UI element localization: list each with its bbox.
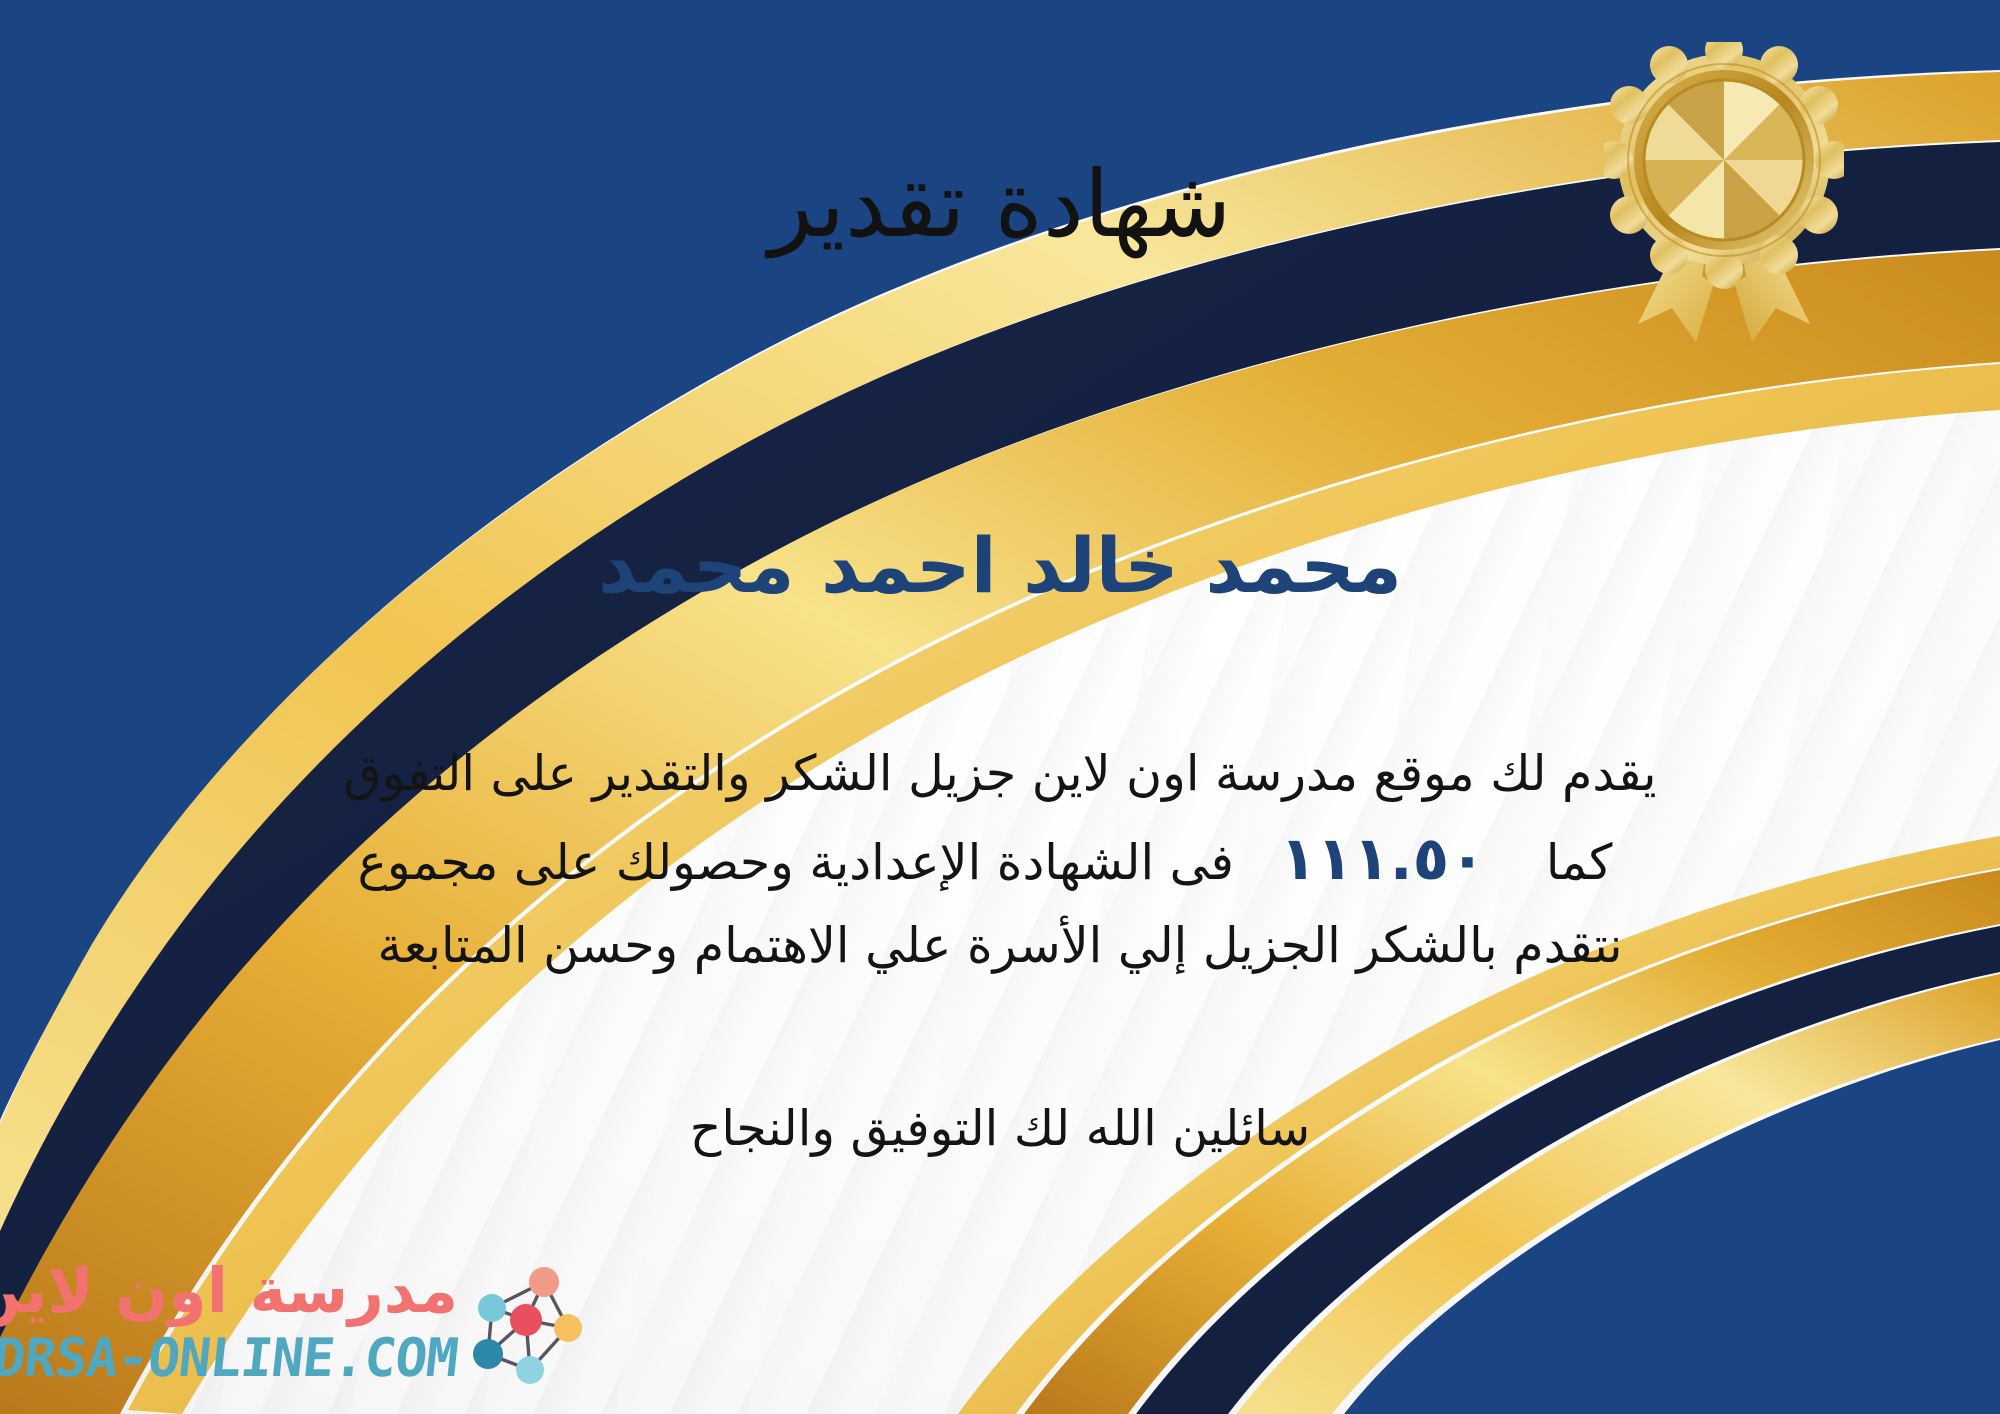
certificate-title: شهادة تقدير	[0, 152, 2000, 258]
total-score-value: ١١١.٥٠	[1238, 812, 1542, 907]
certificate-body: يقدم لك موقع مدرسة اون لاين جزيل الشكر و…	[60, 735, 1940, 985]
body-line-3: نتقدم بالشكر الجزيل إلي الأسرة علي الاهت…	[60, 907, 1940, 984]
certificate-content: شهادة تقدير محمد خالد احمد محمد يقدم لك …	[0, 0, 2000, 1414]
logo-website-text: MADRSA-ONLINE.COM	[0, 1328, 460, 1389]
site-logo[interactable]: مدرسة اون لاين MADRSA-ONLINE.COM	[26, 1252, 586, 1400]
recipient-name: محمد خالد احمد محمد	[0, 520, 2000, 611]
body-line-2: كما ١١١.٥٠ فى الشهادة الإعدادية وحصولك ع…	[60, 812, 1940, 907]
network-nodes-icon	[464, 1258, 582, 1390]
body-line-1: يقدم لك موقع مدرسة اون لاين جزيل الشكر و…	[60, 735, 1940, 812]
logo-arabic-text: مدرسة اون لاين	[0, 1254, 458, 1327]
body-line-2-suffix: كما	[1546, 824, 1643, 901]
certificate-canvas: شهادة تقدير محمد خالد احمد محمد يقدم لك …	[0, 0, 2000, 1414]
body-line-2-prefix: فى الشهادة الإعدادية وحصولك على مجموع	[358, 824, 1234, 901]
closing-wish: سائلين الله لك التوفيق والنجاح	[0, 1100, 2000, 1157]
